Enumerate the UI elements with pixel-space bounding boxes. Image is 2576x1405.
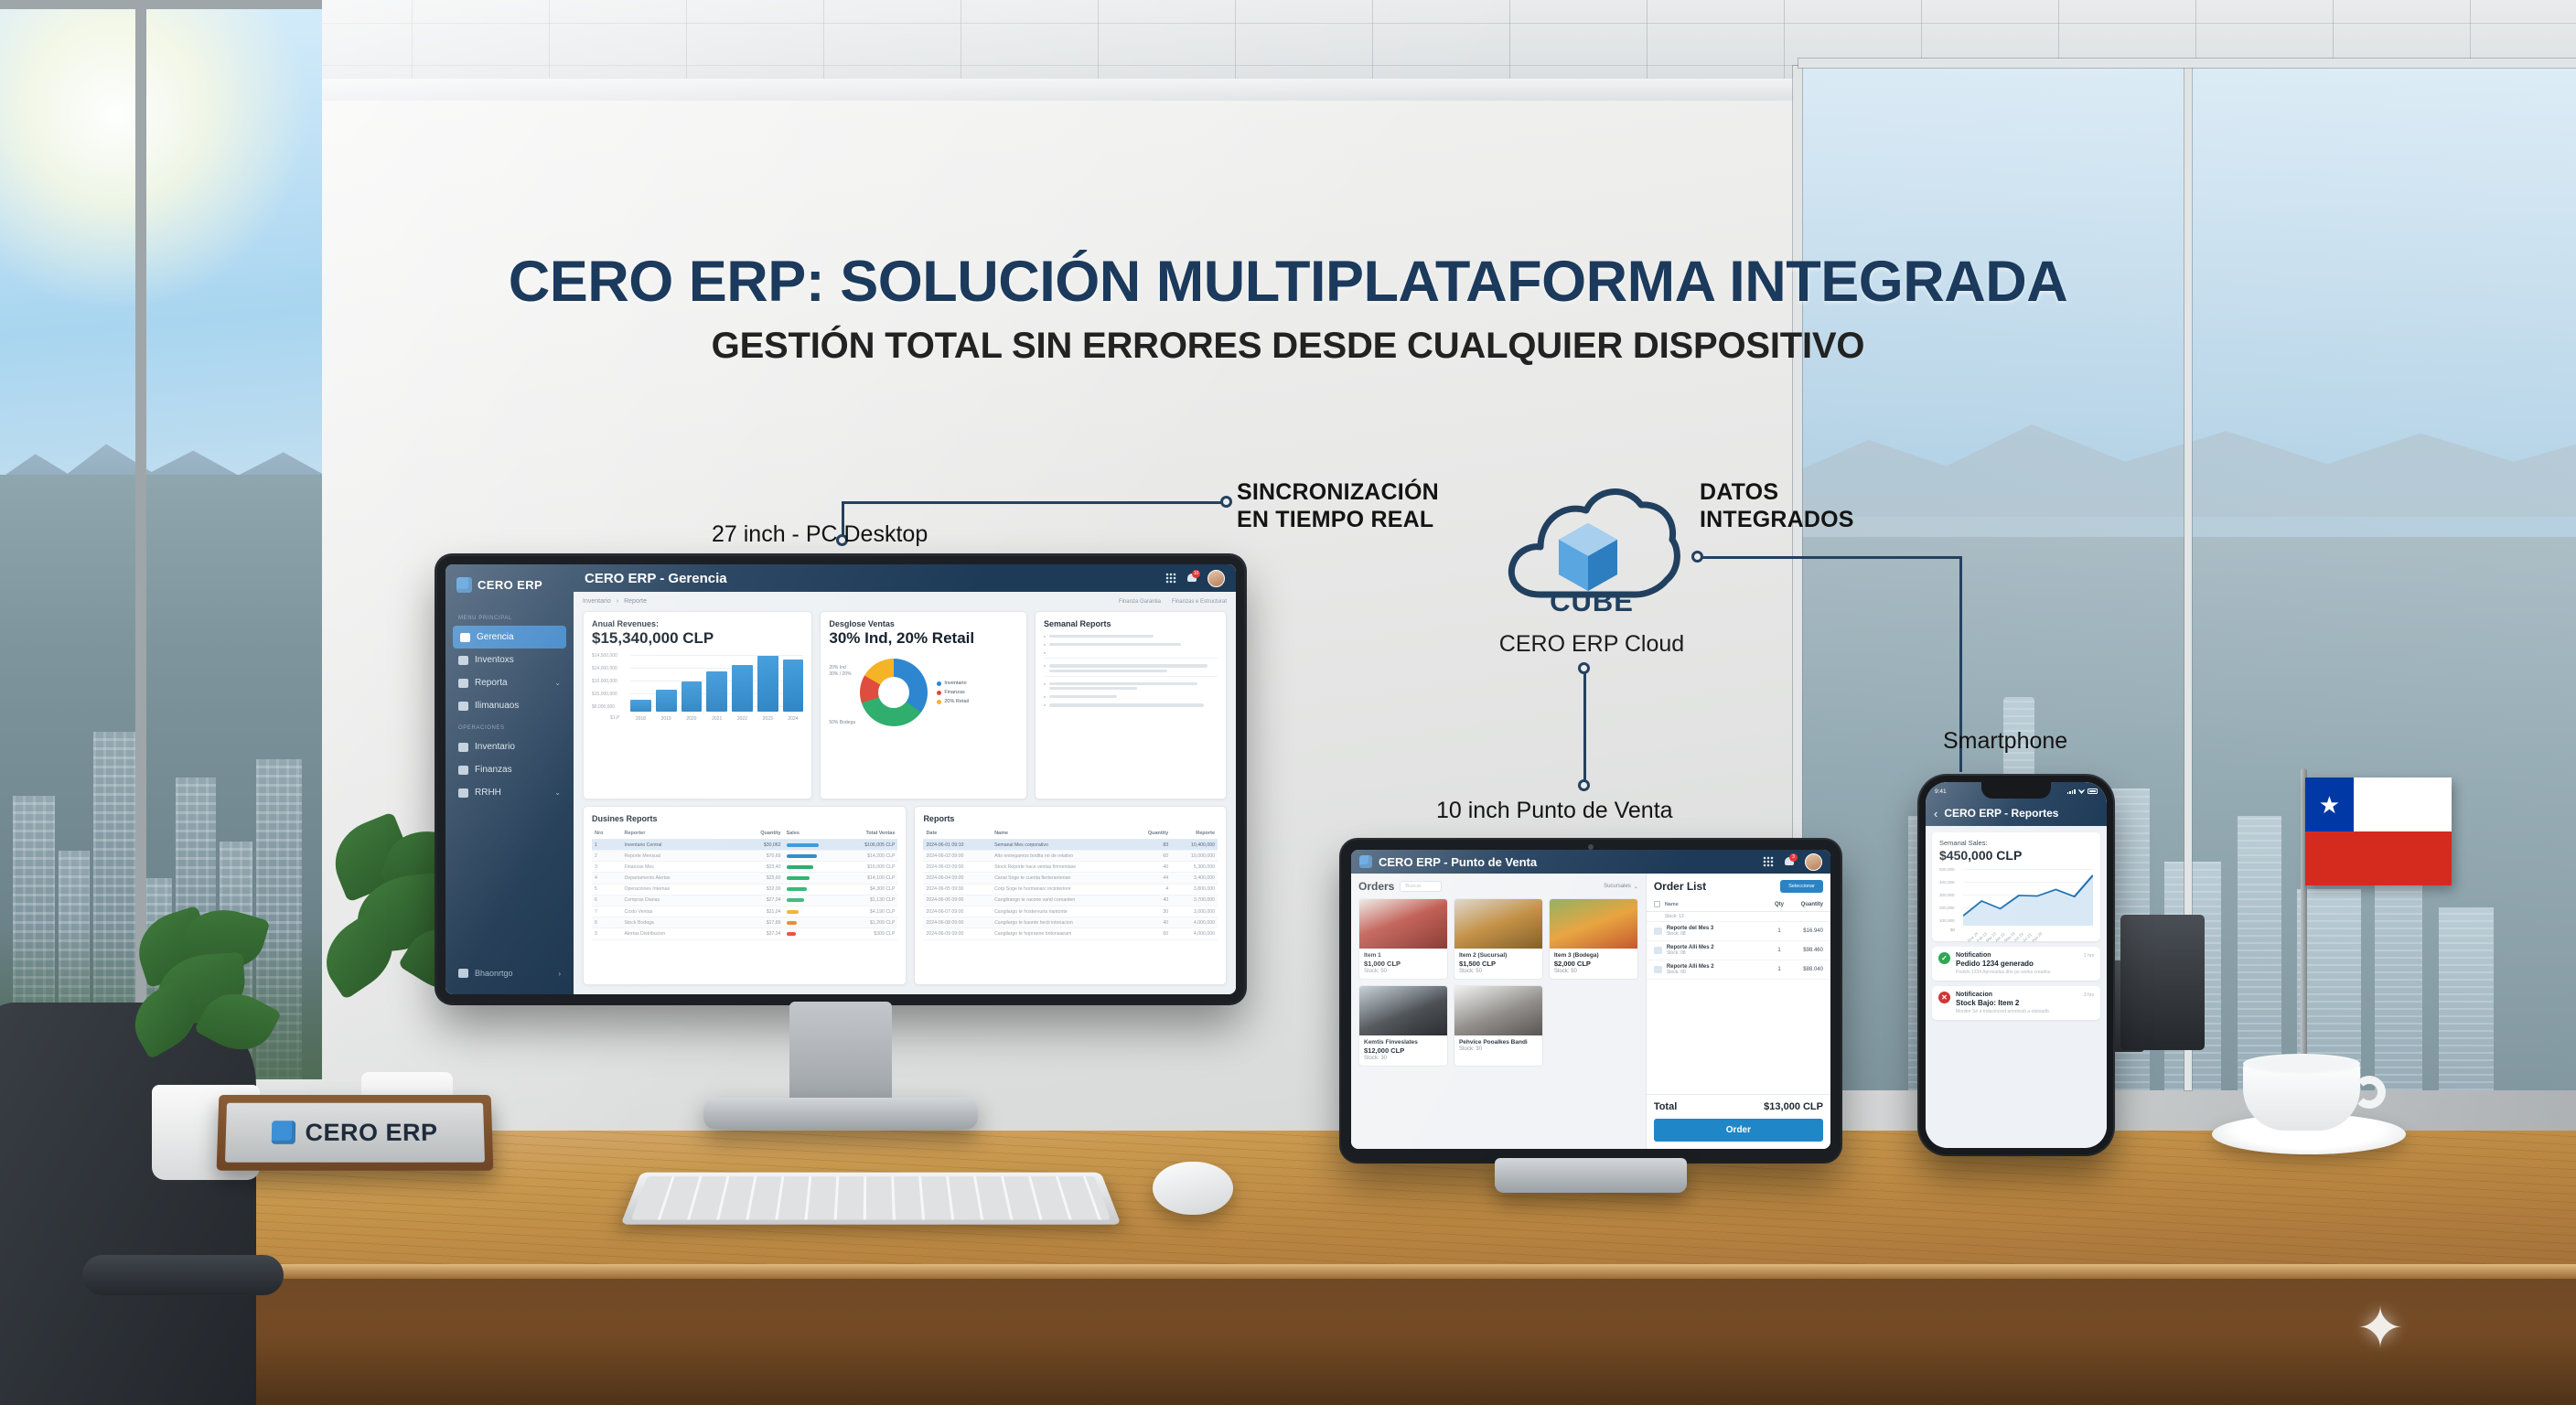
product-image [1359, 899, 1447, 949]
briefcase-icon [458, 702, 468, 711]
pos-title: CERO ERP - Punto de Venta [1379, 855, 1537, 869]
breadcrumb-current: Reporte [624, 598, 647, 605]
table-row[interactable]: 2024-06-01 09:10Semanal Mes corporativo8… [923, 839, 1218, 850]
notification-headline: Stock Bajo: Item 2 [1956, 999, 2094, 1007]
business-reports-table: Nro Reporter Quantity Sales Total Ventas… [592, 828, 897, 940]
breadcrumb-root[interactable]: Inventario [583, 598, 611, 605]
product-price: $2,000 CLP [1554, 960, 1633, 968]
product-card[interactable]: Kemtis Finveslates$12,000 CLPStock: 30 [1358, 985, 1448, 1067]
card-semanal-reports: Semanal Reports [1035, 611, 1227, 799]
users-icon [458, 743, 468, 752]
headline-block: CERO ERP: SOLUCIÓN MULTIPLATAFORMA INTEG… [0, 249, 2576, 367]
pos-app: CERO ERP - Punto de Venta 3 Orders Busca… [1351, 850, 1830, 1149]
order-row[interactable]: Reporte Alli Mes 2Stock: 081$98.460 [1647, 941, 1830, 960]
monitor-stand-base [703, 1098, 978, 1129]
product-grid: Item 1$1,000 CLPStock: 50Item 2 (Sucursa… [1358, 898, 1638, 1067]
ytick-0: 500,000 [1939, 867, 1955, 872]
monitor-stand-neck [789, 1002, 892, 1104]
avatar[interactable] [1805, 853, 1822, 871]
error-icon: ✕ [1938, 992, 1950, 1003]
branch-filter[interactable]: Sucursales ⌄ [1604, 884, 1638, 890]
tablet-stand [1495, 1158, 1687, 1193]
table-row[interactable]: 2024-06-03 09:00Stock Reporte hace venta… [923, 862, 1218, 873]
sidebar-item-inventario[interactable]: Inventario [445, 735, 574, 758]
breadcrumb: Inventario › Reporte Finanza Garantia Fi… [583, 598, 1227, 605]
product-name: Item 1 [1364, 952, 1443, 959]
notification-badge: 10 [1192, 570, 1200, 578]
table-row[interactable]: 2Reporte Mensual$70,69$14,200 CLP [592, 851, 897, 862]
item-icon [1654, 928, 1662, 935]
order-row[interactable]: Reporte del Mes 3Stock: 081$16.940 [1647, 922, 1830, 941]
desk-front-panel [0, 1279, 2576, 1405]
list-item [1044, 676, 1218, 690]
app-title: CERO ERP - Gerencia [585, 571, 727, 586]
xtick-7: Ago 23 [2031, 931, 2043, 943]
card-anual-revenues: Anual Revenues: $15,340,000 CLP $14,500,… [583, 611, 812, 799]
box-icon [458, 656, 468, 665]
col-qty: Qty [1771, 902, 1787, 907]
page-subtitle: GESTIÓN TOTAL SIN ERRORES DESDE CUALQUIE… [0, 326, 2576, 367]
table-row[interactable]: 2024-06-05 09:00Corp Soge te hormanarc i… [923, 884, 1218, 895]
chevron-right-icon: › [558, 970, 561, 978]
battery-icon [2088, 788, 2098, 794]
breakdown-value: 30% Ind, 20% Retail [829, 629, 1018, 648]
table-row[interactable]: 2024-06-06 09:00Cangilrango te racone va… [923, 895, 1218, 906]
notification-headline: Pedido 1234 generado [1956, 960, 2094, 968]
sidebar-item-ilimanuaos[interactable]: Ilimanuaos [445, 694, 574, 717]
desktop-topbar: CERO ERP - Gerencia 10 [574, 564, 1236, 592]
ytick-3: 200,000 [1939, 906, 1955, 910]
cube-logo-icon [1359, 855, 1372, 868]
desktop-monitor: CERO ERP MENU PRINCIPAL Gerencia Invento… [437, 556, 1244, 1003]
col-nro: Nro [592, 828, 621, 840]
xtick-4: 2022 [737, 716, 747, 722]
tablet-device: CERO ERP - Punto de Venta 3 Orders Busca… [1341, 840, 1841, 1162]
table-row[interactable]: 8Stock Bodega$17,89$1,209 CLP [592, 917, 897, 928]
card-reports: Reports Date Name Quantity Reporte 2024-… [914, 806, 1227, 985]
product-image [1454, 986, 1542, 1035]
grid-icon[interactable] [1165, 573, 1176, 584]
legend-0: Inventario [944, 681, 966, 686]
xtick-6: 2024 [788, 716, 798, 722]
select-button[interactable]: Seleccionar [1780, 880, 1823, 893]
table-row[interactable]: 7Costo Ventas$31,04$4,190 CLP [592, 906, 897, 917]
item-icon [1654, 966, 1662, 973]
list-item [1044, 702, 1218, 706]
col-date: Date [923, 828, 992, 840]
product-image [1550, 899, 1637, 949]
table-row[interactable]: 2024-06-04 09:00Canal Soge te cuenta fle… [923, 873, 1218, 884]
donut-legend: Inventario Finanzas 20% Retail [937, 681, 969, 704]
grid-icon[interactable] [1763, 856, 1774, 867]
ytick-2: 300,000 [1939, 893, 1955, 897]
product-stock: Stock: 50 [1364, 969, 1443, 974]
nameplate-text: CERO ERP [305, 1119, 438, 1147]
product-image [1454, 899, 1542, 949]
revenue-label: Anual Revenues: [592, 619, 803, 628]
clock: 9:41 [1935, 788, 1947, 795]
order-row[interactable]: Reporte Alli Mes 2Stock: 001$88.040 [1647, 960, 1830, 980]
notification-title: Notificacion [1956, 992, 1992, 998]
smartphone-device: 9:41 ‹ CERO ERP - Reportes Semanal Sales… [1919, 776, 2113, 1154]
ytick-2: $10,000,000 [592, 679, 617, 684]
desktop-screen[interactable]: CERO ERP MENU PRINCIPAL Gerencia Invento… [445, 564, 1236, 994]
signal-icon [2067, 789, 2076, 794]
sales-label: Semanal Sales: [1939, 839, 2093, 847]
list-item [1044, 641, 1218, 646]
order-list-panel: Order List Seleccionar Name Qty Quantity… [1646, 874, 1830, 1149]
product-name: Item 2 (Sucursal) [1459, 952, 1538, 959]
person-icon [458, 788, 468, 798]
col-amt: Quantity [1792, 902, 1823, 907]
xtick-0: 2018 [636, 716, 646, 722]
notification-title: Notification [1956, 952, 1991, 959]
desk-edge [0, 1264, 2576, 1279]
back-icon[interactable]: ‹ [1934, 808, 1937, 820]
total-label: Total [1654, 1101, 1677, 1112]
avatar[interactable] [1207, 570, 1225, 587]
ytick-1: 400,000 [1939, 880, 1955, 885]
card-dusines-reports: Dusines Reports Nro Reporter Quantity Sa… [583, 806, 907, 985]
sidebar-brand-label: CERO ERP [478, 578, 542, 592]
reports-label: Reports [923, 814, 1218, 823]
order-button[interactable]: Order [1654, 1119, 1823, 1142]
ytick-1: $14,000,000 [592, 666, 617, 671]
weekly-label: Semanal Reports [1044, 619, 1218, 628]
ytick-5: $0 [1950, 928, 1955, 932]
item-icon [1654, 947, 1662, 954]
col-name: Name [1665, 902, 1766, 907]
office-scene: ★ CERO ERP [0, 0, 2576, 1405]
sales-value: $450,000 CLP [1939, 848, 2093, 863]
product-image [1359, 986, 1447, 1035]
wifi-icon [2078, 788, 2085, 794]
notification-time: 1 hrs [2084, 953, 2094, 959]
ytick-4: 100,000 [1939, 918, 1955, 923]
sparkle-decoration: ✦ [2356, 1301, 2413, 1357]
chevron-down-icon: ⌄ [554, 679, 561, 687]
sidebar-section-2: OPERACIONES [445, 717, 574, 735]
order-list-subheader: Stock: 13 [1647, 912, 1830, 922]
product-stock: Stock: 50 [1554, 969, 1633, 974]
revenue-bar-chart: $14,500,000 $14,000,000 $10,000,000 $15,… [592, 653, 803, 723]
cube-logo-icon [272, 1121, 295, 1144]
legend-1: Finanzas [944, 690, 964, 695]
product-price: $12,000 CLP [1364, 1046, 1443, 1055]
table-row[interactable]: 3Finanzas Mes$23,40$16,009 CLP [592, 862, 897, 873]
notification-card[interactable]: ✕Notificacion3 hrsStock Bajo: Item 2Moni… [1932, 986, 2100, 1020]
tablet-topbar: CERO ERP - Punto de Venta 3 [1351, 850, 1830, 874]
table-row[interactable]: 6Compras Diarias$27,04$1,130 CLP [592, 895, 897, 906]
order-total: Total $13,000 CLP [1647, 1094, 1830, 1119]
cup-rim [2243, 1054, 2360, 1074]
briefcase-icon [458, 766, 468, 775]
chair-armrest [82, 1255, 284, 1295]
mouse[interactable] [1153, 1162, 1233, 1215]
search-input[interactable]: Buscar [1400, 881, 1442, 892]
weekly-bullet-list [1044, 633, 1218, 707]
sidebar-item-gerencia[interactable]: Gerencia [453, 626, 566, 649]
breakdown-label: Desglose Ventas [829, 619, 1018, 628]
breadcrumb-right-1: Finanza Garantia [1119, 599, 1161, 605]
desk-nameplate: CERO ERP [217, 1095, 494, 1171]
tablet-screen[interactable]: CERO ERP - Punto de Venta 3 Orders Busca… [1351, 850, 1830, 1149]
sidebar-item-rrhh[interactable]: RRHH ⌄ [445, 781, 574, 804]
cube-logo-icon [456, 577, 472, 593]
table-row[interactable]: 4Departamento Alertas$25,60$14,100 CLP [592, 873, 897, 884]
col-rep: Reporter [621, 828, 729, 840]
table-row[interactable]: 2024-06-07 09:00Cangilargo te hostervuri… [923, 906, 1218, 917]
desktop-sidebar: CERO ERP MENU PRINCIPAL Gerencia Invento… [445, 564, 574, 994]
phone-title: CERO ERP - Reportes [1944, 807, 2058, 820]
sales-line-chart: 500,000 400,000 300,000 200,000 100,000 … [1939, 867, 2093, 935]
product-name: Pehvice Pooalkes Bandi [1459, 1039, 1538, 1046]
sidebar-bottom-item[interactable]: Bhaonrtgo › [445, 961, 574, 985]
select-all-checkbox[interactable] [1654, 901, 1660, 907]
product-name: Item 3 (Bodega) [1554, 952, 1633, 959]
product-price: $1,000 CLP [1364, 960, 1443, 968]
sidebar-item-inventoxs[interactable]: Inventoxs [445, 649, 574, 671]
product-card[interactable]: Item 2 (Sucursal)$1,500 CLPStock: 50 [1454, 898, 1543, 980]
table-row[interactable]: 5Operaciones Internas$32,00$4,300 CLP [592, 884, 897, 895]
chevron-down-icon: ⌄ [554, 788, 561, 797]
cup-handle [2353, 1076, 2386, 1109]
list-item [1044, 693, 1218, 698]
product-price: $1,500 CLP [1459, 960, 1538, 968]
sidebar-brand: CERO ERP [445, 574, 574, 607]
breadcrumb-sep: › [617, 598, 618, 605]
table-row[interactable]: 2024-06-02 09:00Alto entregamos bodita n… [923, 851, 1218, 862]
product-card[interactable]: Item 3 (Bodega)$2,000 CLPStock: 50 [1549, 898, 1638, 980]
col-qty2: Quantity [1130, 828, 1171, 840]
col-qty: Quantity [729, 828, 783, 840]
breakdown-donut-chart: 20% Ind 30% / 20% 50% Bodega Inventario … [829, 652, 1018, 733]
chevron-down-icon: ⌄ [1634, 884, 1638, 890]
order-list-header: Name Qty Quantity [1647, 897, 1830, 912]
total-value: $13,000 CLP [1764, 1101, 1823, 1112]
product-stock: Stock: 50 [1459, 969, 1538, 974]
notification-card[interactable]: ✓Notification1 hrsPedido 1234 generadoPe… [1932, 947, 2100, 981]
page-title: CERO ERP: SOLUCIÓN MULTIPLATAFORMA INTEG… [0, 249, 2576, 315]
notification-badge: 3 [1789, 853, 1798, 862]
sidebar-item-reporta[interactable]: Reporta ⌄ [445, 671, 574, 694]
reports-app: 9:41 ‹ CERO ERP - Reportes Semanal Sales… [1926, 782, 2107, 1148]
col-name: Name [992, 828, 1130, 840]
orders-title: Orders [1358, 880, 1394, 893]
desktop-app: CERO ERP MENU PRINCIPAL Gerencia Invento… [445, 564, 1236, 994]
check-icon: ✓ [1938, 952, 1950, 964]
product-card[interactable]: Item 1$1,000 CLPStock: 50 [1358, 898, 1448, 980]
table-row[interactable]: 1Inventario Central$30,062$106,005 CLP [592, 839, 897, 850]
notification-meta: Pedido 1234 Aprovadas dho pe works cread… [1956, 970, 2094, 975]
order-list-title: Order List [1654, 880, 1706, 893]
ytick-5: $1,P [610, 715, 619, 721]
phone-navbar: ‹ CERO ERP - Reportes [1926, 800, 2107, 826]
donut-annotation-2: 50% Bodega [829, 720, 855, 726]
xtick-5: 2023 [763, 716, 773, 722]
desktop-content: Inventario › Reporte Finanza Garantia Fi… [574, 592, 1236, 994]
desk-organizer [2120, 915, 2205, 1050]
keyboard[interactable] [620, 1173, 1121, 1225]
product-stock: Stock: 30 [1364, 1056, 1443, 1061]
ytick-0: $14,500,000 [592, 653, 617, 659]
col-amt: Reporte [1171, 828, 1218, 840]
flag-star-icon: ★ [2319, 793, 2340, 817]
reports-table: Date Name Quantity Reporte 2024-06-01 09… [923, 828, 1218, 940]
list-item [1044, 649, 1218, 654]
product-card[interactable]: Pehvice Pooalkes BandiStock: 30 [1454, 985, 1543, 1067]
card-semanal-sales: Semanal Sales: $450,000 CLP 500,000 400,… [1932, 832, 2100, 941]
notification-time: 3 hrs [2084, 992, 2094, 998]
card-desglose-ventas: Desglose Ventas 30% Ind, 20% Retail 20% … [820, 611, 1027, 799]
revenue-value: $15,340,000 CLP [592, 629, 803, 648]
table-row[interactable]: 2024-06-09 09:00Cangilargo te hopranne b… [923, 928, 1218, 939]
phone-screen[interactable]: 9:41 ‹ CERO ERP - Reportes Semanal Sales… [1926, 782, 2107, 1148]
sidebar-section-1: MENU PRINCIPAL [445, 607, 574, 626]
product-name: Kemtis Finveslates [1364, 1039, 1443, 1046]
breadcrumb-right-2: Finanzas e Estructurat [1172, 599, 1227, 605]
notification-meta: Monitor Sé a tridaciociod ariontvub a ob… [1956, 1009, 2094, 1014]
product-stock: Stock: 30 [1459, 1046, 1538, 1052]
ytick-4: $6,000,000 [592, 704, 615, 710]
settings-icon [458, 969, 468, 978]
table-row[interactable]: 2024-06-08 09:00Cangilargo te baonte hec… [923, 917, 1218, 928]
xtick-2: 2020 [686, 716, 696, 722]
desk [0, 1131, 2576, 1405]
table-row[interactable]: 9Alertas Distribucion$37,04$309 CLP [592, 928, 897, 939]
donut-annotation-1: 20% Ind 30% / 20% [829, 665, 851, 677]
sidebar-item-finanzas[interactable]: Finanzas [445, 758, 574, 781]
ytick-3: $15,000,000 [592, 692, 617, 697]
users-icon [460, 633, 470, 642]
phone-notch [1981, 782, 2051, 799]
xtick-1: 2019 [661, 716, 671, 722]
legend-2: 20% Retail [944, 699, 969, 704]
xtick-3: 2021 [712, 716, 722, 722]
list-item [1044, 633, 1218, 638]
bell-icon[interactable]: 3 [1784, 856, 1795, 868]
business-label: Dusines Reports [592, 814, 897, 823]
list-item [1044, 658, 1218, 671]
chile-flag: ★ [2305, 778, 2452, 885]
bell-icon[interactable]: 10 [1186, 573, 1197, 585]
report-icon [458, 679, 468, 688]
col-total: Total Ventas [822, 828, 897, 840]
col-sales: Sales [784, 828, 823, 840]
